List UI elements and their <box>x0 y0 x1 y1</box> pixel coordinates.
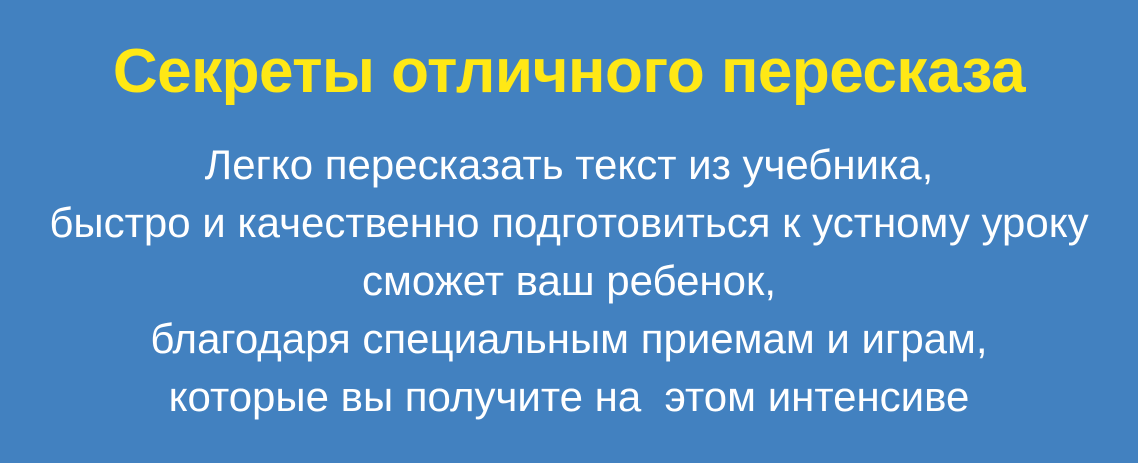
page-title: Секреты отличного пересказа <box>0 41 1138 103</box>
body-line-2: быстро и качественно подготовиться к уст… <box>0 194 1138 252</box>
body-line-1: Легко пересказать текст из учебника, <box>0 136 1138 194</box>
body-line-5: которые вы получите на этом интенсиве <box>0 368 1138 426</box>
body-line-4: благодаря специальным приемам и играм, <box>0 310 1138 368</box>
body-line-3: сможет ваш ребенок, <box>0 252 1138 310</box>
slide-body-text: Легко пересказать текст из учебника, быс… <box>0 136 1138 426</box>
promo-slide: Секреты отличного пересказа Легко переск… <box>0 0 1138 463</box>
